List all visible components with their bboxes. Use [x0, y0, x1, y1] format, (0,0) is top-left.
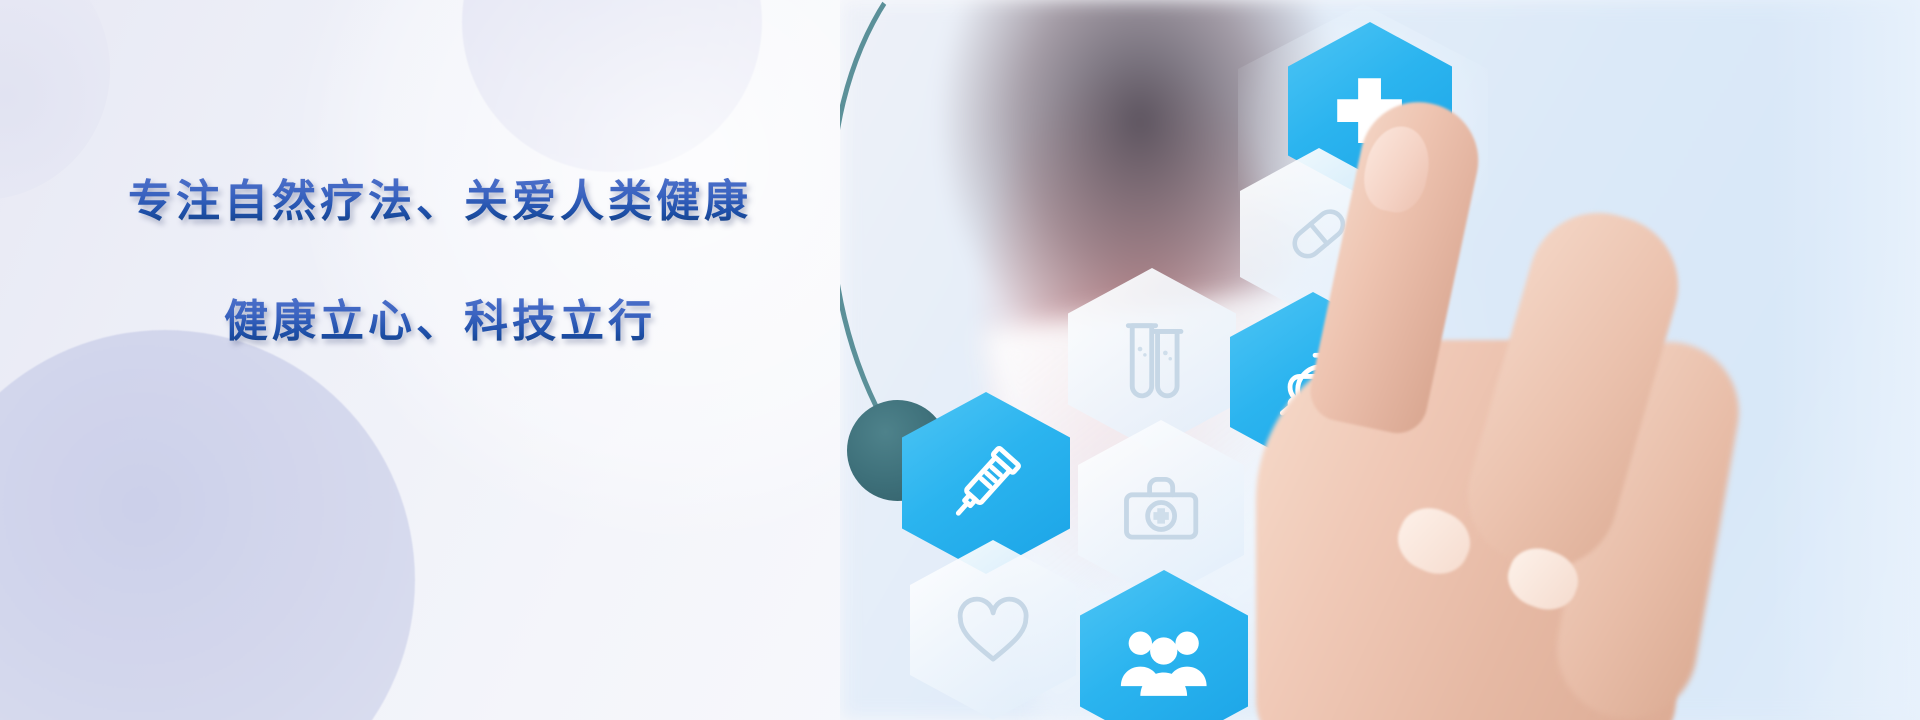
health-banner: 专注自然疗法、关爱人类健康 健康立心、科技立行: [0, 0, 1920, 720]
medical-cross-icon: [1322, 59, 1417, 162]
hexagon-cluster: [840, 0, 1920, 720]
hexagon-test-tubes[interactable]: [1068, 268, 1236, 450]
pill-capsule-icon: [1273, 184, 1365, 284]
people-group-icon: [1115, 608, 1212, 714]
test-tubes-icon: [1103, 306, 1200, 412]
photo-zone: [840, 0, 1920, 720]
hexagon-people-group[interactable]: [1080, 570, 1248, 720]
heart-icon: [945, 578, 1041, 682]
wheelchair-icon: [1265, 330, 1361, 434]
decorative-circle-left-edge: [0, 0, 110, 200]
headline-line-1: 专注自然疗法、关爱人类健康: [0, 178, 880, 226]
headline-line-2: 健康立心、科技立行: [0, 298, 880, 346]
decorative-circle-bottom: [0, 330, 415, 720]
headline-block: 专注自然疗法、关爱人类健康 健康立心、科技立行: [0, 178, 880, 347]
medical-briefcase-icon: [1113, 458, 1209, 562]
hexagon-heart[interactable]: [910, 540, 1076, 720]
decorative-circle-top: [462, 0, 762, 172]
syringe-icon: [937, 430, 1034, 536]
hexagon-wheelchair[interactable]: [1230, 292, 1396, 472]
